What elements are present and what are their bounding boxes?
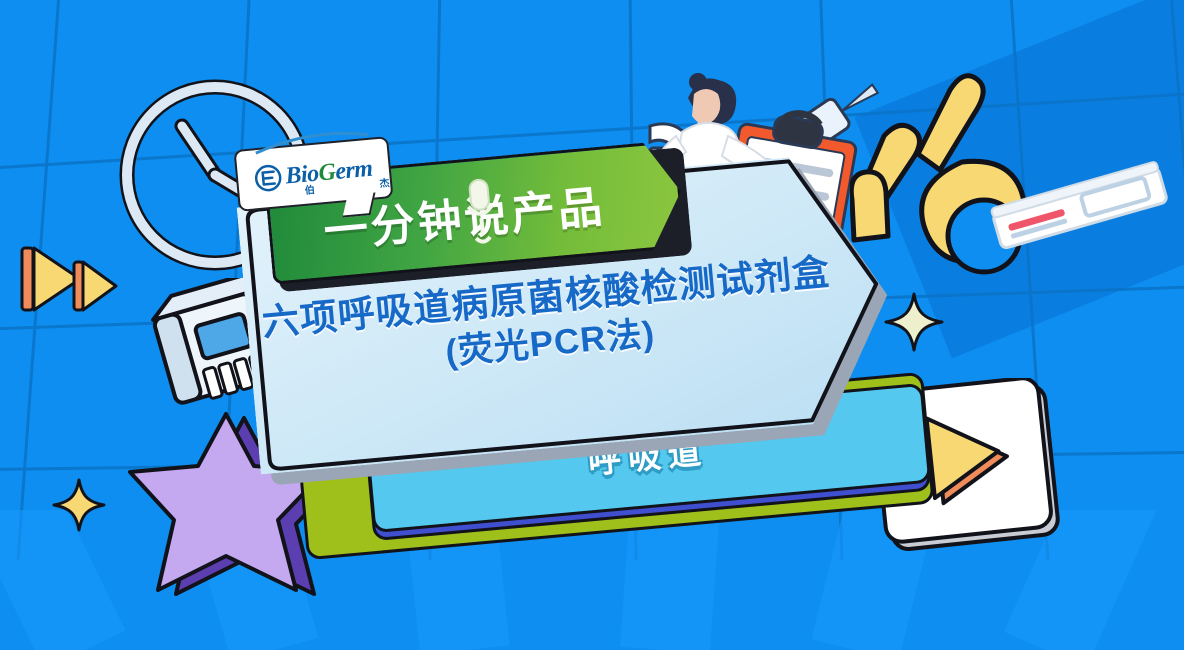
logo-cn-left: 伯 <box>304 180 316 196</box>
microphone-icon <box>461 176 501 245</box>
biogerm-b-mark-icon <box>253 163 283 193</box>
test-strip-icon <box>988 160 1173 255</box>
fast-forward-icon <box>18 242 122 318</box>
sparkle-icon <box>52 478 106 532</box>
logo-wordmark: BioGerm 伯 杰 <box>284 155 373 190</box>
logo: BioGerm 伯 杰 <box>253 155 373 194</box>
promo-banner-canvas: 呼吸道 六项呼吸道病原菌核酸检测试剂盒 (荧光PCR法) 一分钟说产品 <box>0 0 1184 650</box>
logo-bubble: BioGerm 伯 杰 <box>234 136 394 212</box>
logo-cn-right: 杰 <box>379 174 391 190</box>
